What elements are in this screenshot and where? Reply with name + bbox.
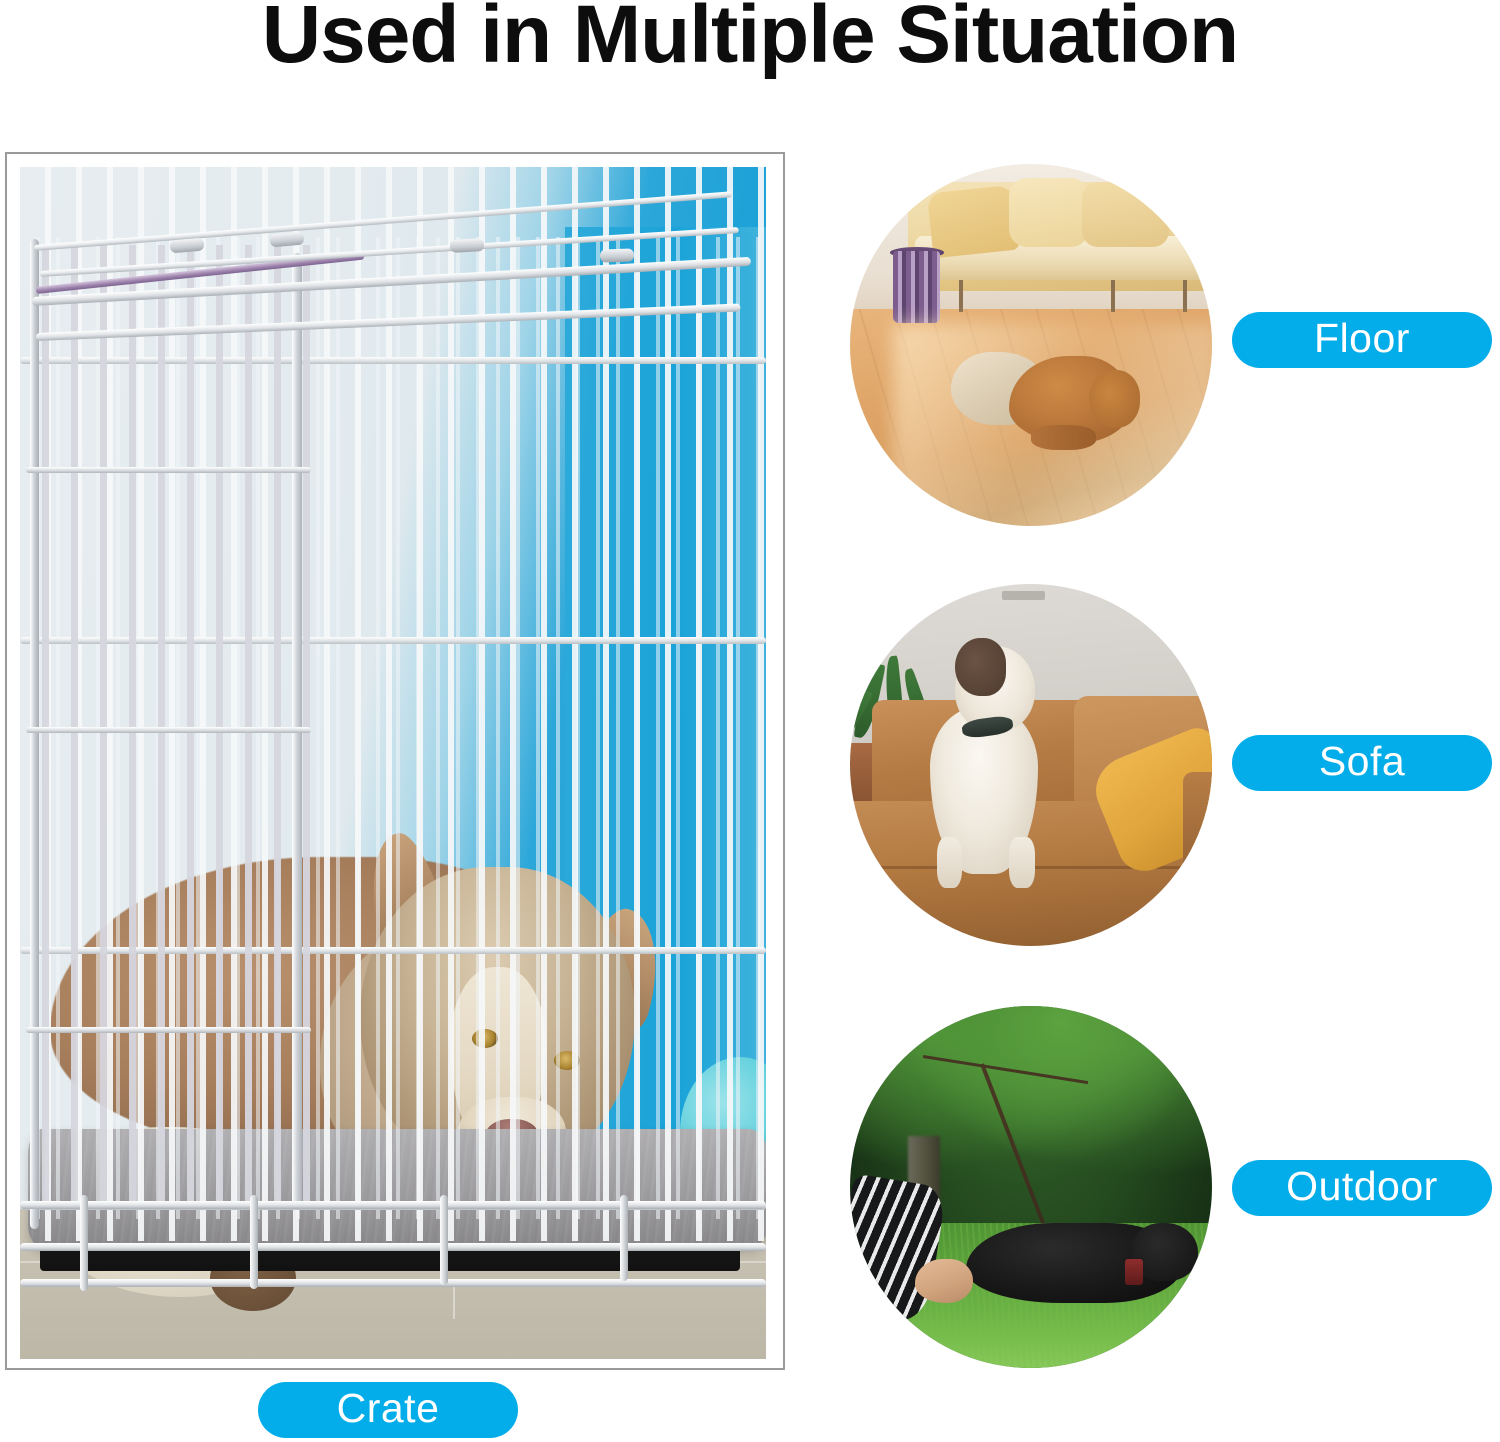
sofa-scene-dog-leg <box>937 837 962 888</box>
floor-scene-side-table <box>893 251 940 323</box>
sofa-scene-armrest <box>1183 772 1212 895</box>
crate-roof-clip <box>269 232 304 248</box>
crate-roof <box>20 225 766 355</box>
badge-sofa[interactable]: Sofa <box>1232 735 1492 791</box>
floor-scene-sofa-leg <box>1111 280 1115 313</box>
crate-base-post <box>440 1195 448 1285</box>
scene-photo-floor <box>850 164 1212 526</box>
crate-roof-clip <box>450 238 485 253</box>
crate-base-post <box>80 1195 88 1291</box>
crate-base-rail <box>20 1201 766 1209</box>
sofa-scene-dog-leg <box>1009 837 1034 888</box>
crate-door-bar <box>26 727 311 733</box>
crate-roof-rail <box>36 303 741 341</box>
crate-door-bar <box>26 1027 311 1033</box>
crate-photo <box>20 167 766 1359</box>
crate-roof-clip <box>600 248 634 262</box>
outdoor-scene-person-hand <box>915 1259 973 1302</box>
outdoor-scene-dog-collar <box>1125 1259 1143 1284</box>
crate-base-rail <box>20 1243 766 1251</box>
crate-door-frame-left <box>30 239 39 1229</box>
floor-scene-sofa-leg <box>1183 280 1187 313</box>
crate-roof-clip <box>169 238 204 254</box>
floor-scene-cushion <box>1082 182 1169 247</box>
sofa-scene-wall-vent <box>1002 591 1045 600</box>
floor-scene-cushion <box>926 185 1019 259</box>
floor-scene-dog-head <box>1089 370 1140 428</box>
floor-scene-dog-legs <box>1031 425 1096 450</box>
crate-door-bar <box>26 467 311 473</box>
scene-photo-outdoor <box>850 1006 1212 1368</box>
outdoor-scene-tree-canopy <box>850 1006 1212 1209</box>
floor-scene-cushion <box>1009 178 1089 247</box>
crate-base-post <box>250 1195 258 1289</box>
badge-floor[interactable]: Floor <box>1232 312 1492 368</box>
floor-scene-sofa-leg <box>959 280 963 313</box>
badge-crate[interactable]: Crate <box>258 1382 518 1438</box>
crate-base-post <box>620 1195 628 1281</box>
sofa-scene-dog-hair <box>955 638 1006 696</box>
crate-photo-frame <box>5 152 785 1370</box>
crate-base-rail <box>20 1279 766 1287</box>
badge-outdoor[interactable]: Outdoor <box>1232 1160 1492 1216</box>
page-title: Used in Multiple Situation <box>0 0 1500 76</box>
scene-photo-sofa <box>850 584 1212 946</box>
